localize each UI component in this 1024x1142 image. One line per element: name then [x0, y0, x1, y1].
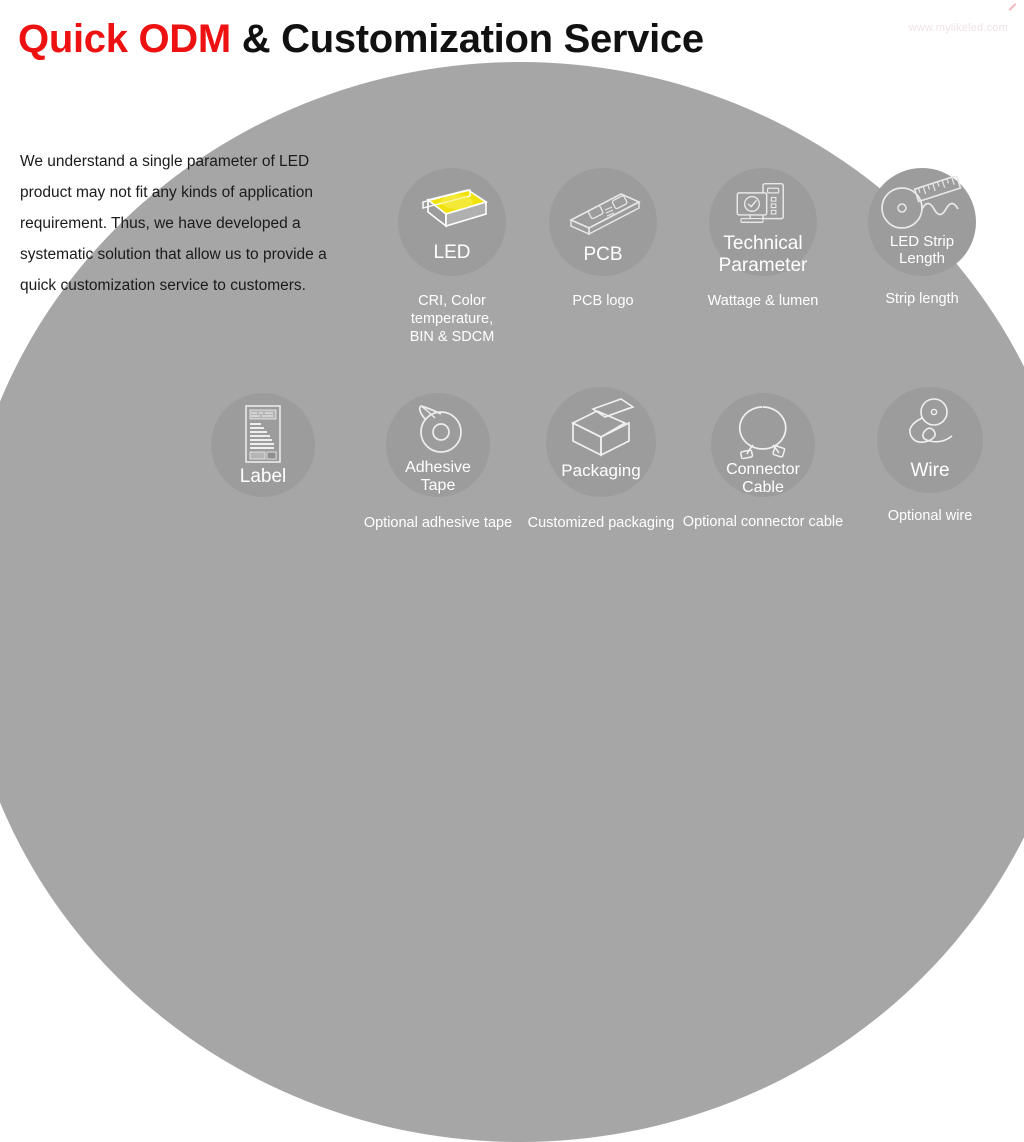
feature-pcb-caption: PCB logo	[533, 292, 673, 310]
pcb-board-icon	[561, 182, 645, 244]
feature-led-disc[interactable]: LED	[398, 168, 506, 276]
feature-pcb-label: PCB	[583, 244, 622, 265]
feature-wire-caption: Optional wire	[860, 507, 1000, 525]
tape-measure-reel-icon	[876, 176, 968, 232]
connector-cable-icon	[731, 403, 795, 459]
feature-wire-disc[interactable]: Wire	[877, 387, 983, 493]
feature-led-caption: CRI, Color temperature, BIN & SDCM	[386, 292, 518, 346]
feature-connector-cable-disc[interactable]: Connector Cable	[711, 393, 815, 497]
open-box-icon	[563, 397, 639, 459]
adhesive-tape-icon	[405, 404, 471, 456]
feature-packaging-caption: Customized packaging	[516, 514, 686, 532]
wire-spool-icon	[893, 397, 967, 457]
feature-led-label: LED	[434, 242, 471, 263]
corner-slash-icon	[1008, 2, 1018, 12]
feature-adhesive-tape-caption: Optional adhesive tape	[353, 514, 523, 532]
page-title-accent: Quick ODM	[18, 17, 231, 61]
feature-connector-cable-label: Connector Cable	[726, 461, 800, 497]
feature-wire[interactable]: Wire Optional wire	[877, 387, 983, 525]
feature-adhesive-tape-disc[interactable]: Adhesive Tape	[386, 393, 490, 497]
feature-technical-parameter[interactable]: Technical Parameter Wattage & lumen	[709, 168, 817, 310]
feature-packaging-label: Packaging	[561, 461, 640, 480]
feature-technical-parameter-disc[interactable]: Technical Parameter	[709, 168, 817, 276]
feature-packaging-disc[interactable]: Packaging	[546, 387, 656, 497]
feature-label-label: Label	[240, 466, 287, 487]
feature-strip-length-label: LED Strip Length	[890, 234, 954, 268]
feature-packaging[interactable]: Packaging Customized packaging	[546, 387, 656, 532]
feature-strip-length-disc[interactable]: LED Strip Length	[868, 168, 976, 276]
computer-monitor-icon	[727, 180, 799, 231]
feature-technical-parameter-caption: Wattage & lumen	[688, 292, 838, 310]
feature-wire-label: Wire	[910, 460, 949, 481]
page-title-rest: & Customization Service	[231, 17, 704, 61]
feature-led[interactable]: LED CRI, Color temperature, BIN & SDCM	[398, 168, 506, 346]
label-document-icon	[239, 403, 287, 465]
feature-strip-length-caption: Strip length	[852, 290, 992, 308]
feature-technical-parameter-label: Technical Parameter	[719, 233, 808, 276]
feature-pcb[interactable]: PCB PCB logo	[549, 168, 657, 310]
watermark-text: www.mylikeled.com	[909, 22, 1008, 34]
feature-connector-cable-caption: Optional connector cable	[673, 513, 853, 531]
feature-adhesive-tape-label: Adhesive Tape	[405, 459, 471, 495]
feature-label-disc[interactable]: Label	[211, 393, 315, 497]
feature-label[interactable]: Label	[211, 393, 315, 513]
feature-connector-cable[interactable]: Connector Cable Optional connector cable	[711, 393, 815, 531]
page-title: Quick ODM & Customization Service	[18, 17, 704, 62]
feature-adhesive-tape[interactable]: Adhesive Tape Optional adhesive tape	[386, 393, 490, 532]
feature-strip-length[interactable]: LED Strip Length Strip length	[868, 168, 976, 308]
feature-pcb-disc[interactable]: PCB	[549, 168, 657, 276]
intro-paragraph: We understand a single parameter of LED …	[20, 146, 330, 301]
led-chip-icon	[412, 180, 492, 242]
